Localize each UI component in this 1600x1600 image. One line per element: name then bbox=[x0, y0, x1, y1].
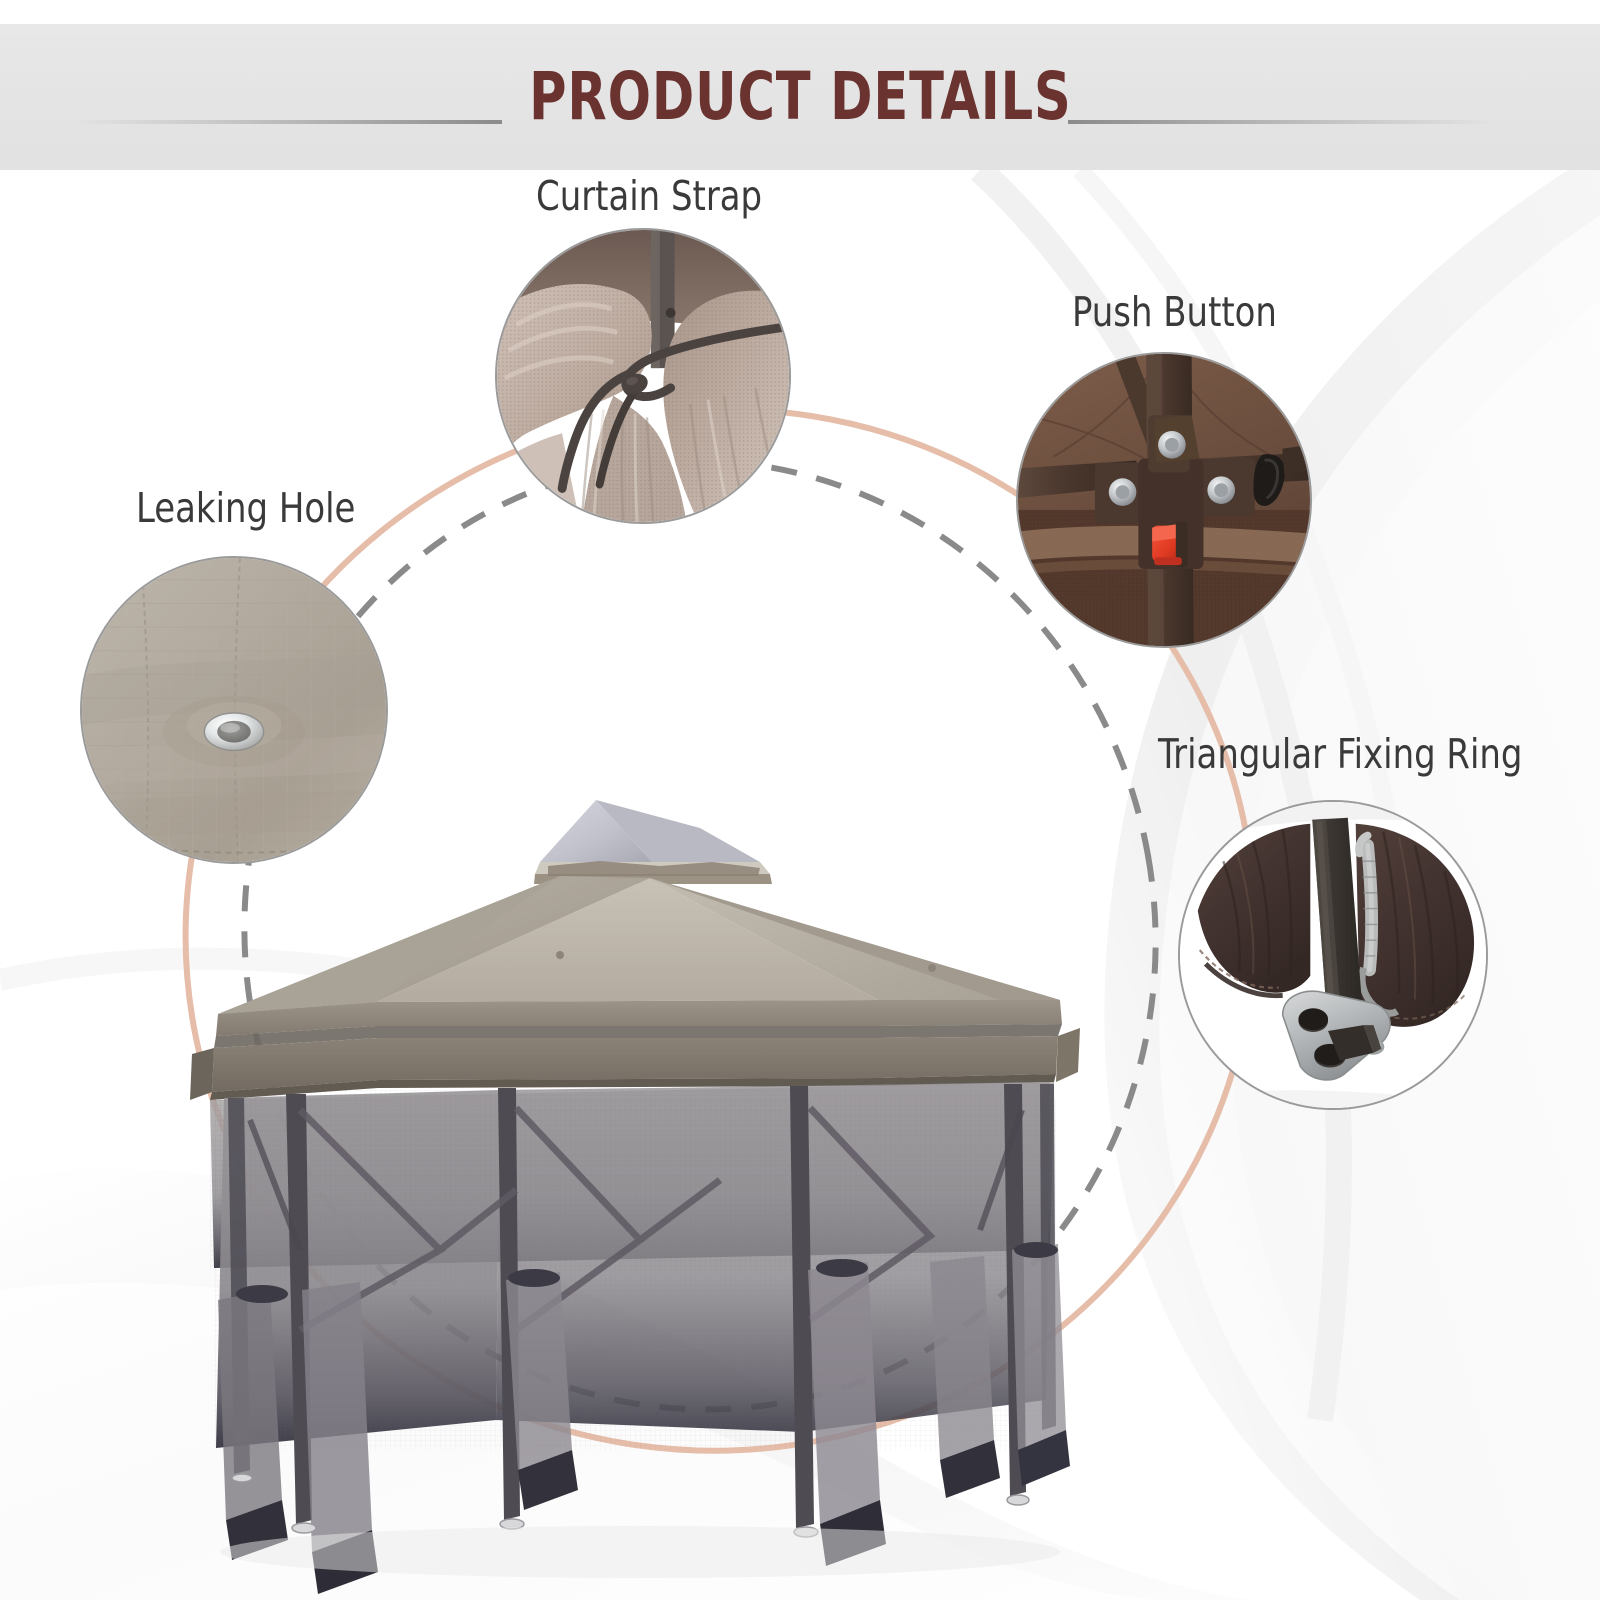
curtain-strap-label-text: Curtain Strap bbox=[536, 172, 762, 220]
leaking-hole-photo bbox=[82, 558, 386, 862]
triangular-fixing-ring-photo bbox=[1180, 802, 1486, 1108]
callout-label-push-button: Push Button bbox=[1072, 292, 1277, 333]
callout-leaking-hole[interactable] bbox=[80, 556, 388, 864]
callout-push-button[interactable] bbox=[1016, 352, 1312, 648]
callout-label-leaking-hole: Leaking Hole bbox=[136, 488, 355, 529]
callout-label-curtain-strap: Curtain Strap bbox=[536, 176, 762, 217]
infographic-canvas: PRODUCT DETAILS bbox=[0, 0, 1600, 1600]
leaking-hole-label-text: Leaking Hole bbox=[136, 484, 355, 532]
push-button-photo bbox=[1018, 354, 1310, 646]
callout-label-triangular-fixing-ring: Triangular Fixing Ring bbox=[1158, 734, 1522, 775]
triangular-fixing-ring-label-text: Triangular Fixing Ring bbox=[1158, 730, 1522, 778]
push-button-label-text: Push Button bbox=[1072, 288, 1277, 336]
callout-triangular-fixing-ring[interactable] bbox=[1178, 800, 1488, 1110]
callout-curtain-strap[interactable] bbox=[495, 228, 791, 524]
curtain-strap-photo bbox=[497, 230, 789, 522]
